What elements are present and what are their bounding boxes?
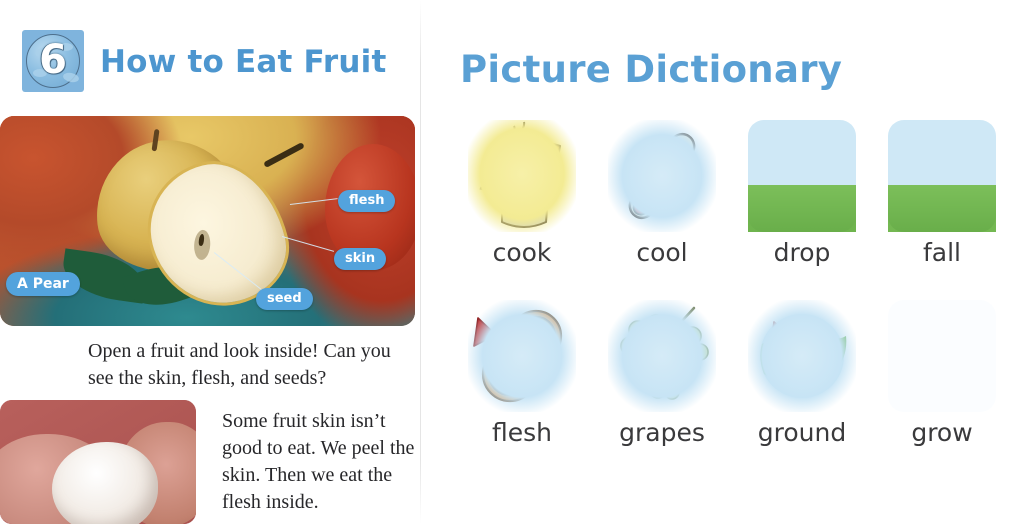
picture-dictionary-grid: cook	[452, 120, 1012, 480]
dictionary-word: flesh	[492, 418, 552, 447]
lychee-photo	[0, 400, 196, 524]
halved-peach-icon	[468, 300, 576, 412]
photo-label-skin: skin	[334, 248, 386, 270]
picture-dictionary-title: Picture Dictionary	[460, 48, 842, 91]
dictionary-word: fall	[923, 238, 961, 267]
cook-icon	[468, 120, 576, 232]
globe-arrow-icon	[748, 300, 856, 412]
left-page: 6 How to Eat Fruit A Pear flesh skin see…	[0, 0, 420, 524]
book-spread: 6 How to Eat Fruit A Pear flesh skin see…	[0, 0, 1024, 524]
photo-label-flesh: flesh	[338, 190, 395, 212]
body-paragraph-1: Open a fruit and look inside! Can you se…	[88, 338, 403, 392]
falling-leaf-tree-icon	[888, 120, 996, 232]
dictionary-entry-grow: grow	[872, 300, 1012, 480]
bird-dropping-seeds-icon	[748, 120, 856, 232]
dictionary-entry-ground: ground	[732, 300, 872, 480]
dictionary-entry-cook: cook	[452, 120, 592, 300]
sunflower-arrows-icon	[888, 300, 996, 412]
dictionary-word: ground	[758, 418, 846, 447]
photo-caption-pill: A Pear	[6, 272, 80, 296]
dictionary-word: grow	[911, 418, 972, 447]
photo-label-seed: seed	[256, 288, 313, 310]
page-title: How to Eat Fruit	[100, 44, 386, 80]
dictionary-entry-flesh: flesh	[452, 300, 592, 480]
chapter-number: 6	[22, 30, 84, 92]
dictionary-entry-cool: cool	[592, 120, 732, 300]
grape-bunch-icon	[608, 300, 716, 412]
dictionary-word: drop	[774, 238, 831, 267]
dictionary-word: cook	[493, 238, 552, 267]
dictionary-entry-grapes: grapes	[592, 300, 732, 480]
lychee-flesh-shape	[52, 442, 158, 524]
body-paragraph-2: Some fruit skin isn’t good to eat. We pe…	[222, 408, 418, 516]
chapter-number-badge: 6	[22, 30, 84, 92]
dictionary-entry-fall: fall	[872, 120, 1012, 300]
dictionary-word: grapes	[619, 418, 705, 447]
right-page: Picture Dictionary	[420, 0, 1024, 524]
dictionary-word: cool	[636, 238, 687, 267]
thermometer-icon	[608, 120, 716, 232]
dictionary-entry-drop: drop	[732, 120, 872, 300]
